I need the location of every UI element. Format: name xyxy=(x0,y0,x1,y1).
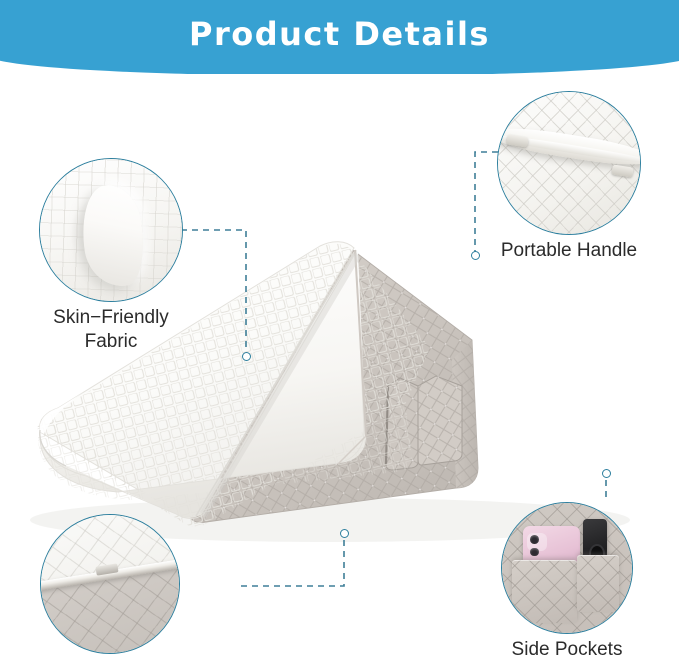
pockets-icon xyxy=(501,502,633,634)
anchor-dot-fabric xyxy=(242,352,251,361)
callout-portable-handle: Portable Handle xyxy=(497,91,641,235)
callout-skin-friendly-fabric: Skin−Friendly Fabric xyxy=(39,158,183,302)
fabric-swirl-icon xyxy=(39,158,183,302)
callout-side-pockets: Side Pockets xyxy=(501,502,633,634)
product-details-infographic: Product Details xyxy=(0,0,679,660)
anchor-dot-pockets xyxy=(602,469,611,478)
callout-smooth-zipper: Smooth Zipper xyxy=(40,514,180,654)
anchor-dot-zipper xyxy=(340,529,349,538)
handle-strap-icon xyxy=(497,91,641,235)
callout-label-skin-friendly-fabric: Skin−Friendly Fabric xyxy=(1,306,221,354)
callout-label-portable-handle: Portable Handle xyxy=(449,239,679,263)
callout-label-side-pockets: Side Pockets xyxy=(457,638,677,660)
zipper-icon xyxy=(40,514,180,654)
